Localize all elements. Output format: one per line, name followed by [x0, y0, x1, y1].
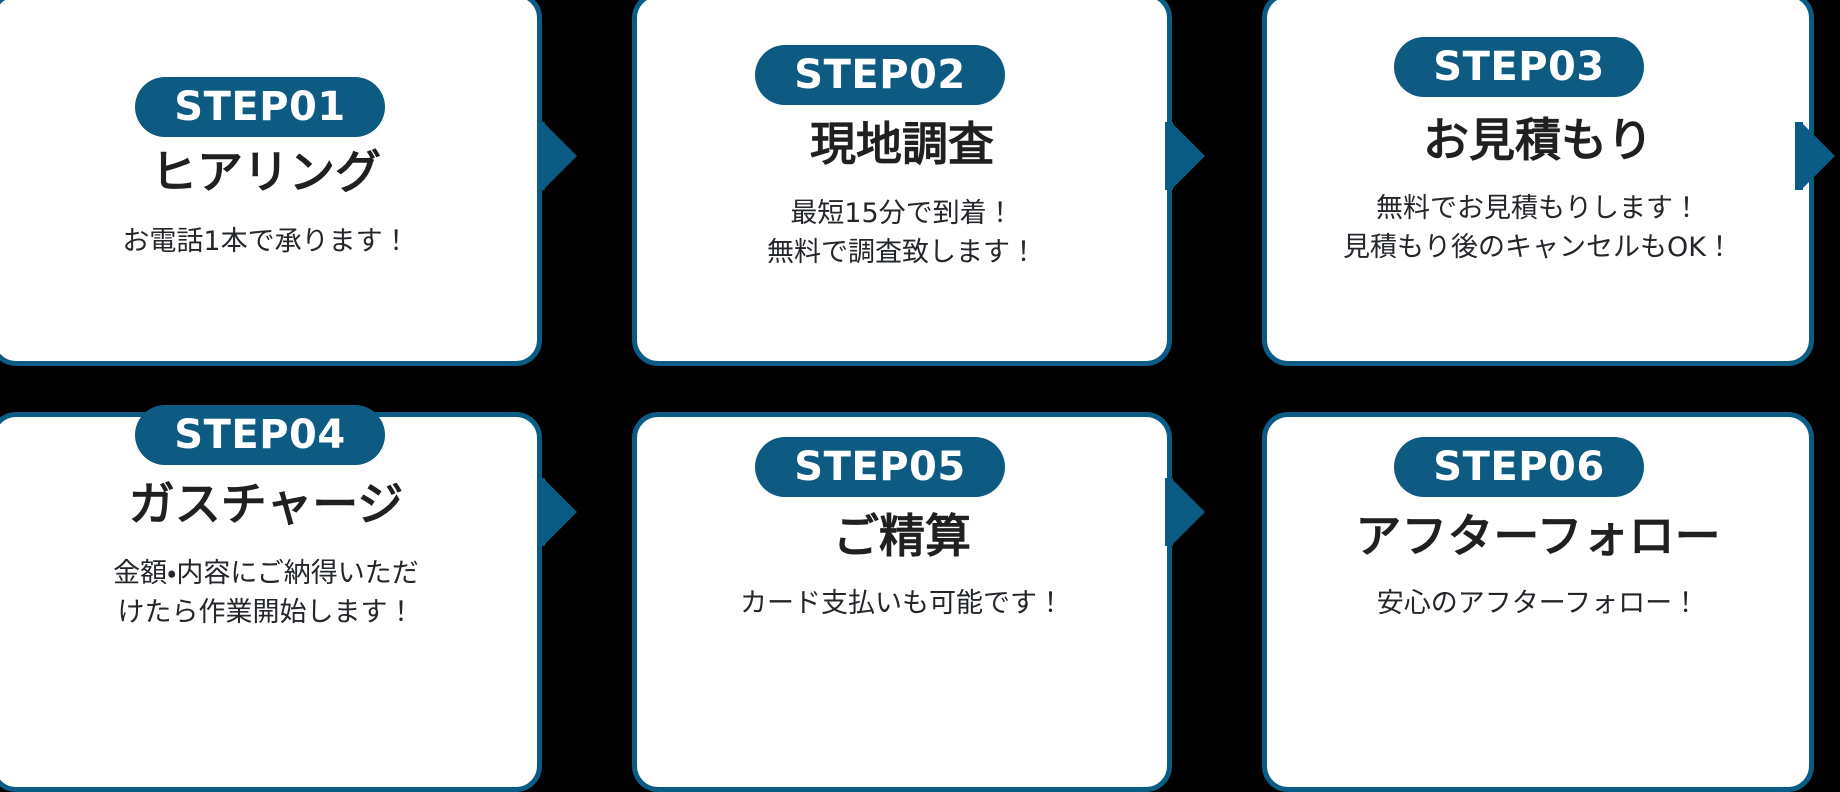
step-title-6: アフターフォロー	[1267, 511, 1809, 562]
step-title-1: ヒアリング	[0, 147, 537, 198]
step-card-3[interactable]: STEP03 お見積もり 無料でお見積もりします！ 見積もり後のキャンセルもOK…	[1262, 0, 1814, 366]
step-flow-diagram: STEP01 ヒアリング お電話1本で承ります！ STEP02 現地調査 最短1…	[0, 0, 1840, 784]
step-description-4: 金額・内容にご納得いただ けたら作業開始します！	[0, 554, 537, 632]
step-badge-4: STEP04	[135, 405, 385, 465]
step-description-6: 安心のアフターフォロー！	[1267, 584, 1809, 623]
step-card-5[interactable]: STEP05 ご精算 カード支払いも可能です！	[632, 412, 1172, 792]
description-line: 無料で調査致します！	[637, 233, 1167, 272]
arrow-icon-3	[1801, 122, 1835, 190]
step-badge-3: STEP03	[1394, 37, 1644, 97]
step-card-1[interactable]: STEP01 ヒアリング お電話1本で承ります！	[0, 0, 542, 366]
step-title-2: 現地調査	[637, 119, 1167, 170]
description-line: けたら作業開始します！	[0, 593, 537, 632]
description-line: カード支払いも可能です！	[637, 584, 1167, 623]
arrow-icon-1	[543, 122, 577, 190]
description-line: 見積もり後のキャンセルもOK！	[1267, 228, 1809, 267]
step-description-1: お電話1本で承ります！	[0, 222, 537, 261]
arrow-icon-2	[1171, 122, 1205, 190]
description-line: 金額・内容にご納得いただ	[0, 554, 537, 593]
step-card-6[interactable]: STEP06 アフターフォロー 安心のアフターフォロー！	[1262, 412, 1814, 792]
step-badge-5: STEP05	[755, 437, 1005, 497]
step-title-3: お見積もり	[1267, 115, 1809, 166]
step-badge-2: STEP02	[755, 45, 1005, 105]
description-line: お電話1本で承ります！	[0, 222, 537, 261]
step-title-5: ご精算	[637, 511, 1167, 562]
arrow-icon-5	[1171, 478, 1205, 546]
arrow-icon-4	[543, 478, 577, 546]
step-card-2[interactable]: STEP02 現地調査 最短15分で到着！ 無料で調査致します！	[632, 0, 1172, 366]
step-card-4[interactable]: STEP04 ガスチャージ 金額・内容にご納得いただ けたら作業開始します！	[0, 412, 542, 792]
step-description-3: 無料でお見積もりします！ 見積もり後のキャンセルもOK！	[1267, 189, 1809, 267]
description-line: 無料でお見積もりします！	[1267, 189, 1809, 228]
step-badge-1: STEP01	[135, 77, 385, 137]
step-description-5: カード支払いも可能です！	[637, 584, 1167, 623]
step-badge-6: STEP06	[1394, 437, 1644, 497]
description-line: 安心のアフターフォロー！	[1267, 584, 1809, 623]
step-description-2: 最短15分で到着！ 無料で調査致します！	[637, 194, 1167, 272]
step-title-4: ガスチャージ	[0, 479, 537, 530]
description-line: 最短15分で到着！	[637, 194, 1167, 233]
